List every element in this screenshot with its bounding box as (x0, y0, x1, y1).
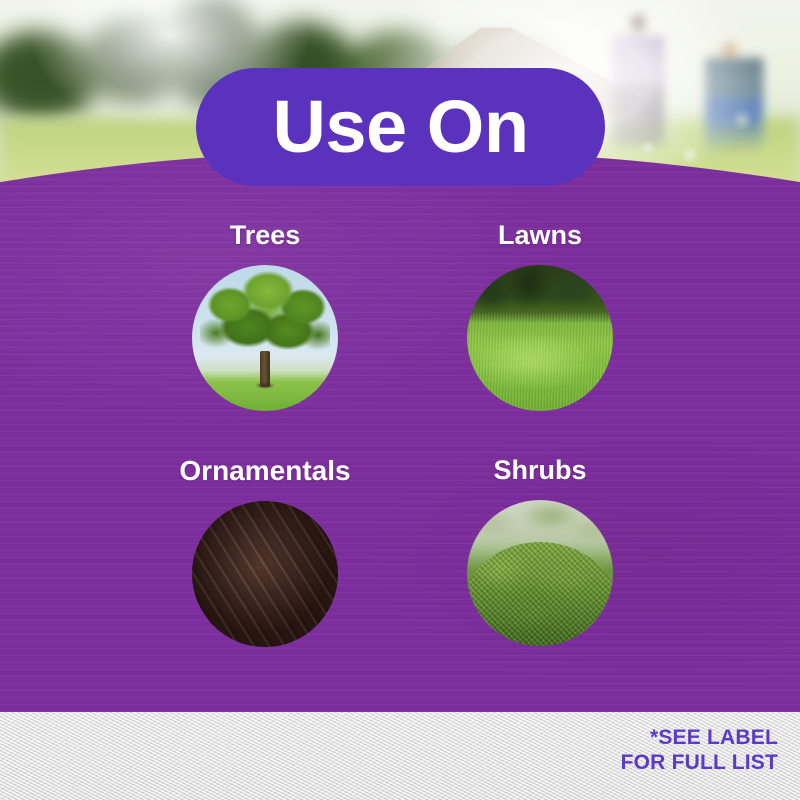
category-lawns: Lawns (410, 222, 670, 411)
category-label: Shrubs (410, 457, 670, 484)
oak-tree-image (192, 265, 338, 411)
lawns-photo (467, 265, 613, 411)
footnote-line-2: FOR FULL LIST (621, 751, 778, 776)
category-trees: Trees (135, 222, 395, 411)
tree-trunk (260, 351, 270, 387)
leaf-shading (192, 501, 338, 647)
lawn-highlight (467, 265, 613, 411)
green-lawn-image (467, 265, 613, 411)
trees-photo (192, 265, 338, 411)
footnote-line-1: *SEE LABEL (621, 726, 778, 751)
ornamentals-photo (192, 501, 338, 647)
footer-bar: *SEE LABEL FOR FULL LIST (0, 712, 800, 800)
shrub-foliage-texture (467, 542, 613, 646)
category-grid: Trees Lawns Ornamentals (0, 222, 800, 692)
page-title: Use On (272, 90, 528, 164)
category-label: Ornamentals (135, 457, 395, 485)
category-label: Trees (135, 222, 395, 249)
boxwood-shrub-image (467, 500, 613, 646)
use-on-badge: Use On (196, 68, 605, 186)
use-on-poster: Use On Trees Lawns Orname (0, 0, 800, 800)
ornamental-leaves-image (192, 501, 338, 647)
category-ornamentals: Ornamentals (135, 457, 395, 647)
footnote: *SEE LABEL FOR FULL LIST (621, 726, 778, 776)
shrubs-photo (467, 500, 613, 646)
category-shrubs: Shrubs (410, 457, 670, 646)
category-label: Lawns (410, 222, 670, 249)
